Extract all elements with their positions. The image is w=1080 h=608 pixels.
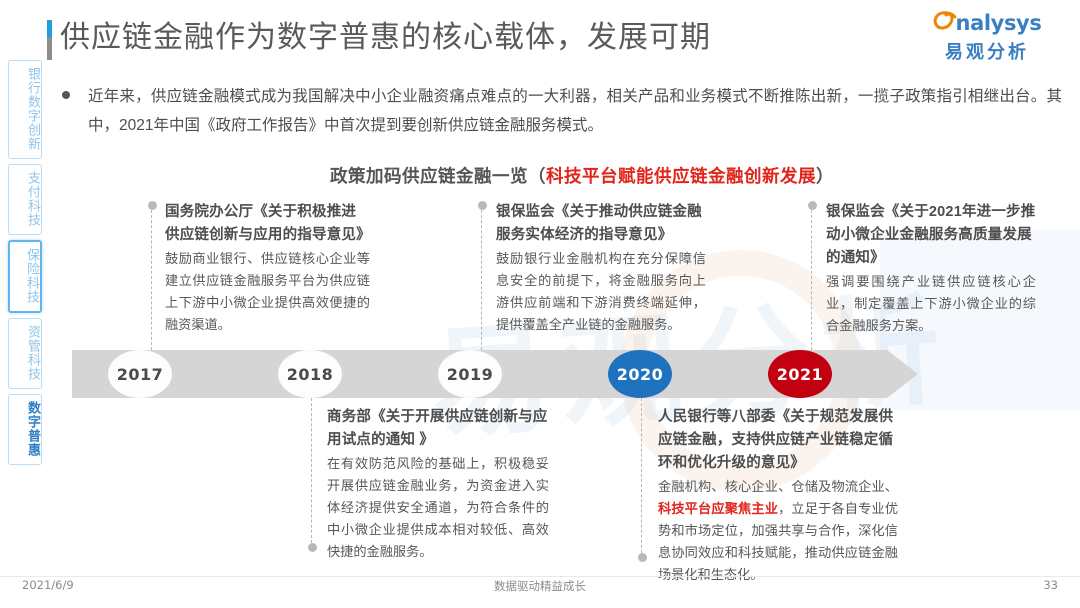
policy-card-2017: 国务院办公厅《关于积极推进供应链创新与应用的指导意见》 鼓励商业银行、供应链核心… xyxy=(165,201,370,336)
policy-card-2019: 银保监会《关于推动供应链金融服务实体经济的指导意见》 鼓励银行业金融机构在充分保… xyxy=(496,201,706,336)
connector-2018 xyxy=(311,398,312,548)
logo-word-text: nalysys xyxy=(956,11,1042,35)
title-accent-bar xyxy=(47,20,52,60)
connector-2017 xyxy=(151,205,152,350)
policy-card-body: 鼓励银行业金融机构在充分保障信息安全的前提下，将金融服务向上游供应前端和下游消费… xyxy=(496,248,706,336)
footer-date: 2021/6/9 xyxy=(22,578,74,592)
timeline-year-2021[interactable]: 2021 xyxy=(768,350,832,398)
sidebar-item-digital-inclusive-finance[interactable]: 数字普惠 xyxy=(8,394,42,465)
policy-card-body-part1: 金融机构、核心企业、仓储及物流企业、 xyxy=(658,479,898,494)
connector-2019 xyxy=(481,205,482,350)
logo-wordmark: nalysys xyxy=(922,10,1052,36)
bullet-dot-icon xyxy=(62,91,70,99)
timeline-year-label: 2018 xyxy=(287,365,334,384)
connector-2021 xyxy=(811,205,812,350)
policy-card-body-highlight: 科技平台应聚焦主业 xyxy=(658,501,778,516)
sidebar-item-payment-tech[interactable]: 支付科技 xyxy=(8,164,42,235)
sidebar-item-insurance-tech[interactable]: 保险科技 xyxy=(8,240,42,313)
footer-divider xyxy=(0,576,1080,577)
policy-card-body: 在有效防范风险的基础上，积极稳妥开展供应链金融业务，为资金进入实体经济提供安全通… xyxy=(327,453,549,563)
section-heading: 政策加码供应链金融一览（科技平台赋能供应链金融创新发展） xyxy=(330,163,834,188)
timeline-year-label: 2017 xyxy=(117,365,164,384)
section-heading-main: 政策加码供应链金融一览（ xyxy=(330,166,546,186)
sidebar-item-asset-management-tech[interactable]: 资管科技 xyxy=(8,318,42,389)
connector-cap-icon xyxy=(478,201,487,210)
intro-bullet-text: 近年来，供应链金融模式成为我国解决中小企业融资痛点难点的一大利器，相关产品和业务… xyxy=(88,82,1062,140)
policy-card-title: 商务部《关于开展供应链创新与应用试点的通知 》 xyxy=(327,406,549,452)
connector-cap-icon xyxy=(638,553,647,562)
sidebar-item-label: 保险科技 xyxy=(24,248,41,304)
timeline-year-2017[interactable]: 2017 xyxy=(108,350,172,398)
section-heading-close: ） xyxy=(816,166,834,186)
timeline-year-label: 2019 xyxy=(447,365,494,384)
policy-card-2020: 人民银行等八部委《关于规范发展供应链金融，支持供应链产业链稳定循环和优化升级的意… xyxy=(658,406,898,586)
policy-card-title: 国务院办公厅《关于积极推进供应链创新与应用的指导意见》 xyxy=(165,201,370,247)
sidebar-item-label: 数字普惠 xyxy=(25,401,42,457)
footer-page-number: 33 xyxy=(1043,578,1058,592)
connector-2020 xyxy=(641,398,642,558)
policy-card-body: 鼓励商业银行、供应链核心企业等建立供应链金融服务平台为供应链上下游中小微企业提供… xyxy=(165,248,370,336)
policy-card-title: 银保监会《关于2021年进一步推动小微企业金融服务高质量发展的通知》 xyxy=(826,201,1036,270)
policy-card-body-mixed: 金融机构、核心企业、仓储及物流企业、科技平台应聚焦主业，立足于各自专业优势和市场… xyxy=(658,476,898,586)
sidebar-tabs: 银行数字创新 支付科技 保险科技 资管科技 数字普惠 xyxy=(6,60,44,470)
logo-chinese-text: 易观分析 xyxy=(922,38,1052,64)
sidebar-item-label: 资管科技 xyxy=(25,325,42,381)
sidebar-item-bank-digital-innovation[interactable]: 银行数字创新 xyxy=(8,60,42,159)
policy-card-2018: 商务部《关于开展供应链创新与应用试点的通知 》 在有效防范风险的基础上，积极稳妥… xyxy=(327,406,549,563)
policy-card-2021: 银保监会《关于2021年进一步推动小微企业金融服务高质量发展的通知》 强调要围绕… xyxy=(826,201,1036,337)
sidebar-item-label: 支付科技 xyxy=(25,171,42,227)
policy-card-title: 银保监会《关于推动供应链金融服务实体经济的指导意见》 xyxy=(496,201,706,247)
section-heading-highlight: 科技平台赋能供应链金融创新发展 xyxy=(546,166,816,186)
policy-card-body: 强调要围绕产业链供应链核心企业，制定覆盖上下游小微企业的综合金融服务方案。 xyxy=(826,271,1036,337)
brand-logo: nalysys 易观分析 xyxy=(922,10,1052,64)
intro-bullet: 近年来，供应链金融模式成为我国解决中小企业融资痛点难点的一大利器，相关产品和业务… xyxy=(62,82,1062,140)
timeline-year-2018[interactable]: 2018 xyxy=(278,350,342,398)
timeline-year-2019[interactable]: 2019 xyxy=(438,350,502,398)
sidebar-item-label: 银行数字创新 xyxy=(25,67,42,151)
slide-canvas: 易观分析 供应链金融作为数字普惠的核心载体，发展可期 nalysys 易观分析 … xyxy=(0,0,1080,608)
timeline-year-2020[interactable]: 2020 xyxy=(608,350,672,398)
timeline-year-label: 2021 xyxy=(777,365,824,384)
connector-cap-icon xyxy=(808,201,817,210)
page-title: 供应链金融作为数字普惠的核心载体，发展可期 xyxy=(60,16,711,60)
policy-card-title: 人民银行等八部委《关于规范发展供应链金融，支持供应链产业链稳定循环和优化升级的意… xyxy=(658,406,898,475)
footer-slogan: 数据驱动精益成长 xyxy=(494,578,586,594)
timeline-year-label: 2020 xyxy=(617,365,664,384)
connector-cap-icon xyxy=(308,543,317,552)
connector-cap-icon xyxy=(148,201,157,210)
